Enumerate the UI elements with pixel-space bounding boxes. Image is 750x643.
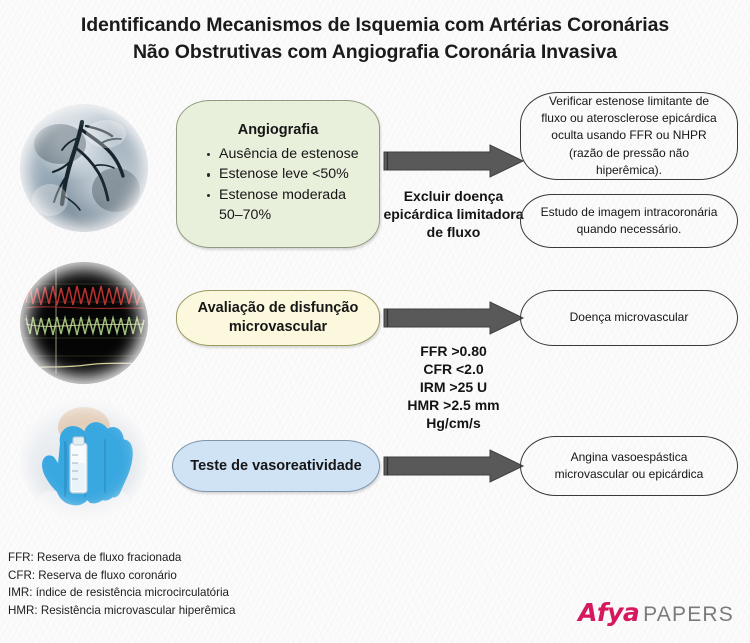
logo-word-text: PAPERS [643, 603, 734, 627]
gloved-hand-vial-icon [20, 399, 148, 519]
teste-vasoreatividade-label: Teste de vasoreatividade [189, 457, 363, 476]
hemodynamic-tracing-image: 2 1 0 [20, 262, 148, 384]
coronary-angiogram-image [20, 104, 148, 232]
outcome-box-vasospastic-angina-text: Angina vasoespástica microvascular ou ep… [521, 449, 737, 483]
legend-item-ffr: FFR: Reserva de fluxo fracionada [8, 549, 235, 567]
block-arrow-icon [382, 143, 525, 179]
pressure-waveform-icon: 2 1 0 [20, 262, 148, 384]
block-arrow-icon [382, 300, 525, 336]
outcome-box-intracoronary-imaging[interactable]: Estudo de imagem intracoronária quando n… [520, 194, 738, 248]
angiografia-bullet-list: Ausência de estenose Estenose leve <50% … [183, 145, 373, 226]
diagram-canvas: Identificando Mecanismos de Isquemia com… [0, 0, 750, 643]
page-title-line1: Identificando Mecanismos de Isquemia com… [81, 14, 669, 36]
page-title-line2: Não Obstrutivas com Angiografia Coronári… [0, 39, 750, 66]
list-item: Estenose moderada 50–70% [207, 186, 367, 225]
svg-text:1: 1 [25, 315, 28, 321]
logo-brand-text: Afya [578, 598, 639, 627]
arrow-caption-row1: Excluir doença epicárdica limitadora de … [382, 188, 525, 242]
coronary-vessel-tree-icon [20, 104, 148, 232]
outcome-box-microvascular-disease[interactable]: Doença microvascular [520, 290, 738, 346]
list-item: Estenose leve <50% [207, 165, 367, 185]
avaliacao-disfuncao-microvascular-label: Avaliação de disfunção microvascular [193, 299, 363, 337]
outcome-box-ffr-nhpr[interactable]: Verificar estenose limitante de fluxo ou… [520, 92, 738, 180]
page-title: Identificando Mecanismos de Isquemia com… [0, 12, 750, 66]
outcome-box-microvascular-disease-text: Doença microvascular [521, 309, 737, 326]
angiografia-box-title: Angiografia [183, 122, 373, 138]
arrow-vasoreactivity-result [382, 448, 525, 484]
arrow-exclude-epicardial [382, 143, 525, 179]
afya-papers-logo: Afya PAPERS [578, 598, 734, 627]
angiografia-box[interactable]: Angiografia Ausência de estenose Estenos… [176, 100, 380, 248]
coronary-angiogram-photo [20, 104, 148, 232]
outcome-box-vasospastic-angina[interactable]: Angina vasoespástica microvascular ou ep… [520, 436, 738, 496]
vial-gloved-hand-image [20, 399, 148, 519]
legend-item-hmr: HMR: Resistência microvascular hiperêmic… [8, 602, 235, 620]
outcome-box-intracoronary-imaging-text: Estudo de imagem intracoronária quando n… [521, 204, 737, 238]
teste-vasoreatividade-box[interactable]: Teste de vasoreatividade [172, 440, 380, 492]
svg-text:2: 2 [25, 279, 28, 285]
list-item: Ausência de estenose [207, 145, 367, 165]
outcome-box-ffr-nhpr-text: Verificar estenose limitante de fluxo ou… [521, 93, 737, 178]
svg-text:0: 0 [25, 351, 28, 357]
hemodynamic-tracing-screen: 2 1 0 [20, 262, 148, 384]
avaliacao-disfuncao-microvascular-box[interactable]: Avaliação de disfunção microvascular [176, 290, 380, 346]
block-arrow-icon [382, 448, 525, 484]
abbreviation-legend: FFR: Reserva de fluxo fracionada CFR: Re… [8, 549, 235, 619]
arrow-caption-row2: FFR >0.80 CFR <2.0 IRM >25 U HMR >2.5 mm… [382, 343, 525, 433]
legend-item-cfr: CFR: Reserva de fluxo coronário [8, 567, 235, 585]
legend-item-imr: IMR: índice de resistência microcirculat… [8, 584, 235, 602]
vial-icon [70, 437, 87, 493]
vial-gloved-hand-photo [20, 399, 148, 519]
arrow-microvascular-criteria [382, 300, 525, 336]
